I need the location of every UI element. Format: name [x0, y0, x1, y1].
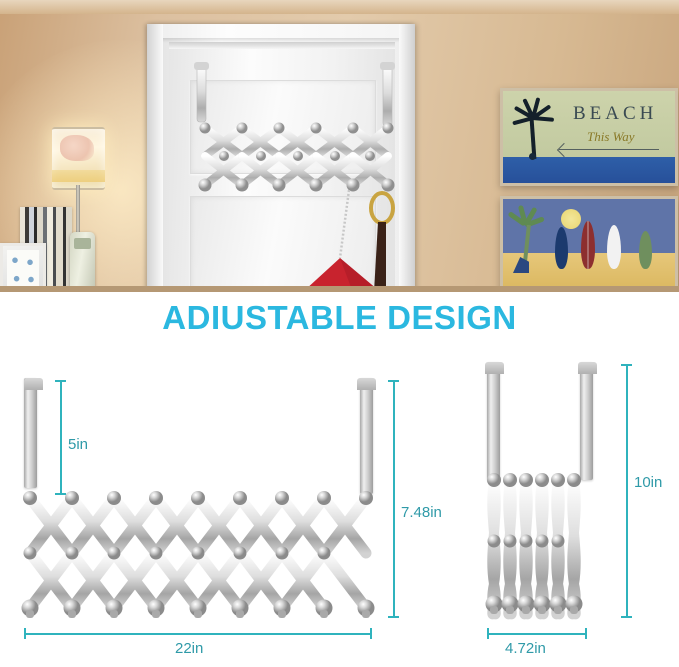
beach-sign-subtext: This Way: [587, 129, 635, 145]
cordless-phone: [70, 232, 95, 292]
phone-screen: [74, 238, 91, 249]
dimension-line-10in: [626, 364, 628, 618]
page-title: ADIUSTABLE DESIGN: [0, 299, 679, 337]
picture-frame-art: [7, 250, 39, 291]
coconut: [529, 153, 536, 160]
dimension-cap-top-10in: [621, 364, 632, 366]
picture-frame: [0, 243, 46, 292]
surfboard-3: [607, 225, 621, 269]
dimension-cap-right-472in: [585, 628, 587, 639]
sun-icon: [561, 209, 581, 229]
surfboard-1: [555, 227, 568, 269]
beach-sign-artwork: BEACH This Way: [500, 88, 678, 186]
surfboard-artwork: [500, 196, 678, 290]
photo-bottom-edge: [0, 286, 679, 292]
surfboard-4: [639, 231, 652, 269]
left-arrow-icon: [559, 149, 659, 150]
collapsed-lattice: [0, 348, 679, 667]
lamp-shade-art: [60, 135, 94, 161]
dimension-line-472in: [487, 633, 587, 635]
product-infographic: BEACH This Way ADIUSTABLE DESIGN: [0, 0, 679, 667]
dimension-cap-left-472in: [487, 628, 489, 639]
dimension-diagrams: 5in 7.48in 22in: [0, 348, 679, 667]
dimension-label-10in: 10in: [634, 474, 662, 491]
beach-sign-heading: BEACH: [573, 103, 657, 125]
lamp-shade: [52, 127, 105, 190]
beach-sign-ocean: [503, 157, 675, 183]
lifestyle-photo: BEACH This Way: [0, 0, 679, 292]
dimension-label-472in: 4.72in: [505, 640, 546, 657]
dimension-cap-bottom-10in: [621, 616, 632, 618]
lamp-shade-band: [52, 170, 105, 182]
